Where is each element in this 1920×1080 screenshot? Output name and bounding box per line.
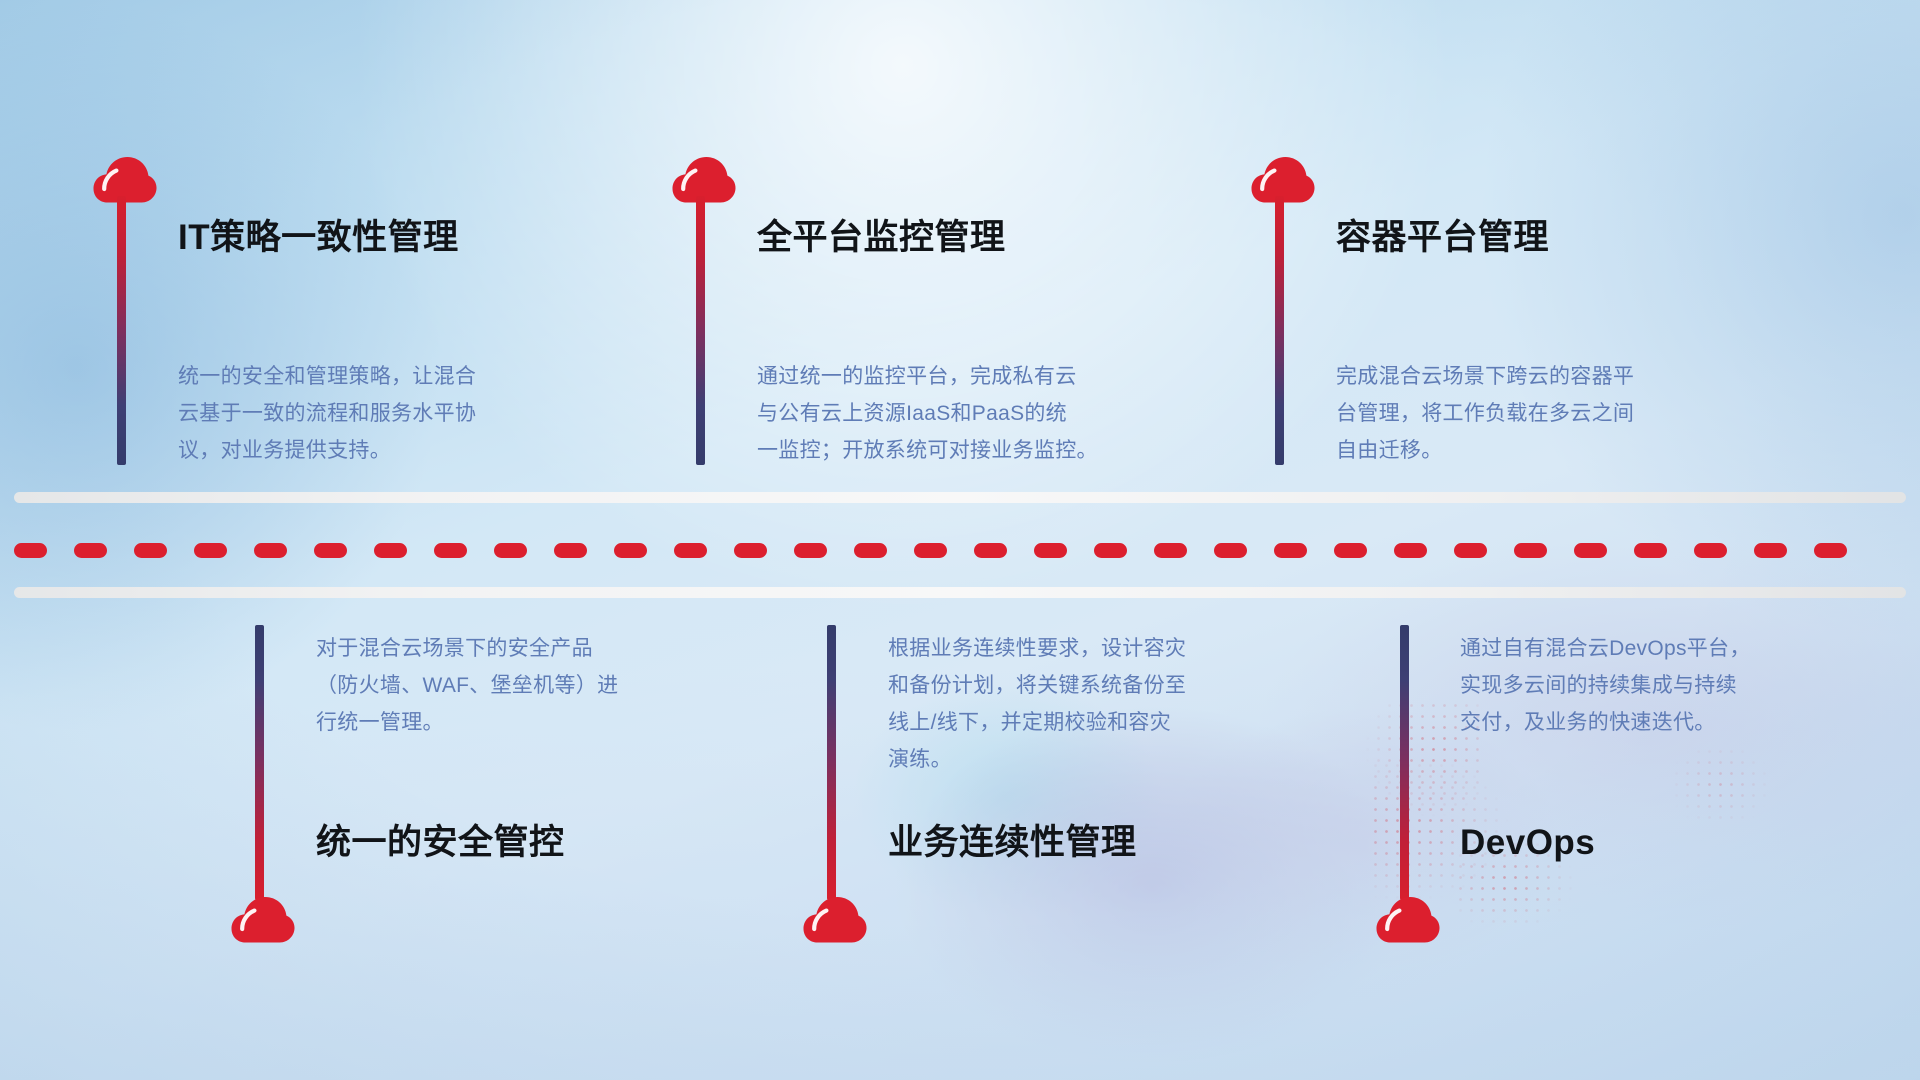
card-body-text: 对于混合云场景下的安全产品 （防火墙、WAF、堡垒机等）进 行统一管理。 <box>316 630 736 741</box>
road-dash <box>974 543 1007 558</box>
cloud-icon <box>231 896 295 944</box>
road-dash <box>134 543 167 558</box>
road-dash <box>1574 543 1607 558</box>
card-body-text: 统一的安全和管理策略，让混合 云基于一致的流程和服务水平协 议，对业务提供支持。 <box>178 358 608 469</box>
road-dash <box>74 543 107 558</box>
road-dash <box>1274 543 1307 558</box>
cloud-icon <box>803 896 867 944</box>
road-dash <box>494 543 527 558</box>
road-dash <box>1634 543 1667 558</box>
card-body-text: 通过自有混合云DevOps平台， 实现多云间的持续集成与持续 交付，及业务的快速… <box>1460 630 1890 741</box>
connector-stem <box>117 196 126 465</box>
road-dash <box>374 543 407 558</box>
road-dash <box>914 543 947 558</box>
card-heading: 容器平台管理 <box>1336 220 1549 255</box>
connector-stem <box>696 196 705 465</box>
road-dash <box>1094 543 1127 558</box>
road-dash <box>794 543 827 558</box>
road-dash <box>854 543 887 558</box>
road-dashed-center-line <box>14 543 1909 558</box>
road-dash <box>1454 543 1487 558</box>
road-dash <box>1694 543 1727 558</box>
road-dash <box>614 543 647 558</box>
halftone-dots-decoration <box>1660 735 1780 835</box>
card-heading: 全平台监控管理 <box>757 220 1006 255</box>
road-edge-line-top <box>14 492 1906 503</box>
road-dash <box>734 543 767 558</box>
road-dash <box>314 543 347 558</box>
road-dash <box>1814 543 1847 558</box>
road-edge-line-bottom <box>14 587 1906 598</box>
connector-stem <box>1400 625 1409 900</box>
card-body-text: 根据业务连续性要求，设计容灾 和备份计划，将关键系统备份至 线上/线下，并定期校… <box>888 630 1308 778</box>
road-dash <box>1514 543 1547 558</box>
infographic-canvas: IT策略一致性管理 统一的安全和管理策略，让混合 云基于一致的流程和服务水平协 … <box>0 0 1920 1080</box>
card-heading: 统一的安全管控 <box>316 825 565 860</box>
road-dash <box>1214 543 1247 558</box>
card-heading: DevOps <box>1460 825 1595 860</box>
card-heading: IT策略一致性管理 <box>178 220 459 255</box>
road-dash <box>14 543 47 558</box>
road-dash <box>254 543 287 558</box>
road-dash <box>1334 543 1367 558</box>
road-dash <box>194 543 227 558</box>
connector-stem <box>827 625 836 900</box>
road-dash <box>554 543 587 558</box>
road-dash <box>674 543 707 558</box>
road-dash <box>1154 543 1187 558</box>
road-dash <box>1394 543 1427 558</box>
road-dash <box>1754 543 1787 558</box>
card-heading: 业务连续性管理 <box>888 825 1137 860</box>
road-dash <box>1034 543 1067 558</box>
road-dash <box>434 543 467 558</box>
card-body-text: 完成混合云场景下跨云的容器平 台管理，将工作负载在多云之间 自由迁移。 <box>1336 358 1786 469</box>
card-body-text: 通过统一的监控平台，完成私有云 与公有云上资源IaaS和PaaS的统 一监控；开… <box>757 358 1227 469</box>
cloud-icon <box>1376 896 1440 944</box>
connector-stem <box>255 625 264 900</box>
connector-stem <box>1275 196 1284 465</box>
